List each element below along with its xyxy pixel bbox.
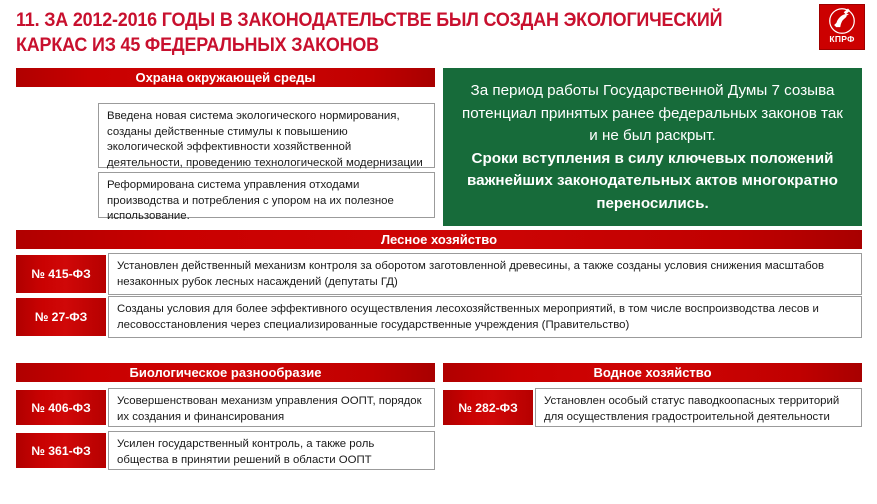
forestry-item-1: Установлен действенный механизм контроля… [108, 253, 862, 295]
forestry-item-2: Созданы условия для более эффективного о… [108, 296, 862, 338]
law-chip-406: № 406-ФЗ [16, 390, 106, 425]
title-block: 11. ЗА 2012-2016 ГОДЫ В ЗАКОНОДАТЕЛЬСТВЕ… [16, 8, 806, 58]
water-item-1: Установлен особый статус паводкоопасных … [535, 388, 862, 427]
callout-paragraph-normal: За период работы Государственной Думы 7 … [461, 80, 844, 148]
section-header-environment: Охрана окружающей среды [16, 68, 435, 87]
biodiversity-item-2: Усилен государственный контроль, а также… [108, 431, 435, 470]
kprf-logo-label: КПРФ [829, 34, 854, 44]
law-chip-415: № 415-ФЗ [16, 255, 106, 293]
section-header-water: Водное хозяйство [443, 363, 862, 382]
environment-item-2: Реформирована система управления отходам… [98, 172, 435, 218]
law-chip-27: № 27-ФЗ [16, 298, 106, 336]
hammer-and-sickle-icon [828, 7, 856, 35]
section-header-forestry: Лесное хозяйство [16, 230, 862, 249]
page-title: 11. ЗА 2012-2016 ГОДЫ В ЗАКОНОДАТЕЛЬСТВЕ… [16, 8, 743, 58]
biodiversity-item-1: Усовершенствован механизм управления ООП… [108, 388, 435, 427]
law-chip-361: № 361-ФЗ [16, 433, 106, 468]
slide-root: 11. ЗА 2012-2016 ГОДЫ В ЗАКОНОДАТЕЛЬСТВЕ… [0, 0, 877, 504]
section-header-biodiversity: Биологическое разнообразие [16, 363, 435, 382]
callout-panel: За период работы Государственной Думы 7 … [443, 68, 862, 226]
law-chip-282: № 282-ФЗ [443, 390, 533, 425]
kprf-logo: КПРФ [819, 4, 865, 50]
callout-paragraph-bold: Сроки вступления в силу ключевых положен… [461, 148, 844, 216]
environment-item-1: Введена новая система экологического нор… [98, 103, 435, 168]
